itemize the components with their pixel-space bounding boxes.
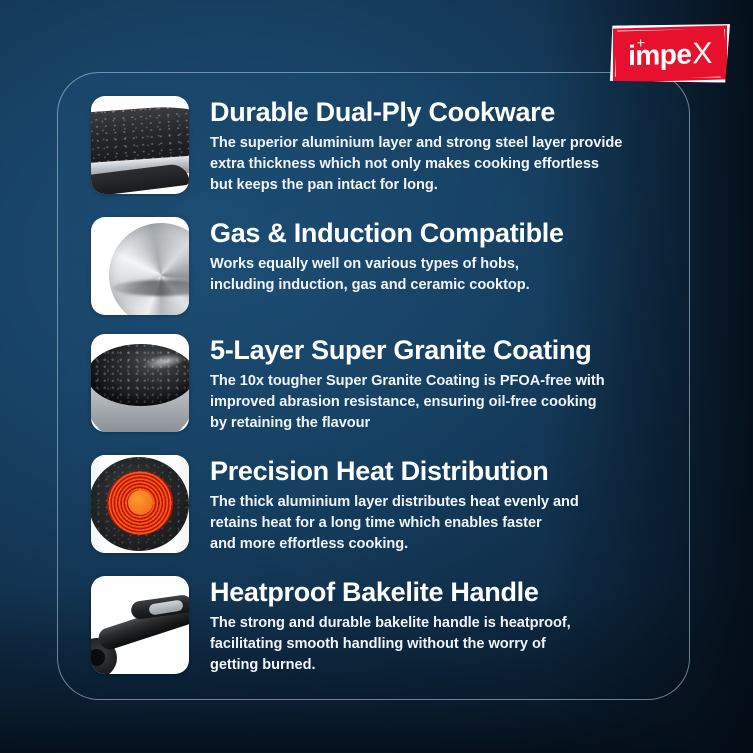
product-feature-infographic: impeX Durable Dual-Ply Cookware The supe…	[0, 0, 753, 753]
feature-text-block: Gas & Induction Compatible Works equally…	[210, 217, 564, 296]
feature-title: 5-Layer Super Granite Coating	[210, 336, 605, 365]
heat-core-center	[128, 490, 153, 515]
feature-description-line: The 10x tougher Super Granite Coating is…	[210, 371, 605, 392]
feature-description-line: improved abrasion resistance, ensuring o…	[210, 392, 605, 413]
disc-face-shape	[109, 223, 189, 315]
feature-description-line: including induction, gas and ceramic coo…	[210, 275, 564, 296]
feature-description-line: and more effortless cooking.	[210, 534, 579, 555]
feature-text-block: Durable Dual-Ply Cookware The superior a…	[210, 96, 622, 195]
feature-item-heatproof-bakelite-handle[interactable]: Heatproof Bakelite Handle The strong and…	[91, 576, 691, 696]
feature-description: The 10x tougher Super Granite Coating is…	[210, 371, 605, 433]
feature-text-block: Heatproof Bakelite Handle The strong and…	[210, 576, 571, 675]
feature-description: Works equally well on various types of h…	[210, 254, 564, 295]
feature-description-line: retains heat for a long time which enabl…	[210, 513, 579, 534]
feature-description-line: facilitating smooth handling without the…	[210, 634, 571, 655]
feature-description-line: Works equally well on various types of h…	[210, 254, 564, 275]
feature-description-line: The superior aluminium layer and strong …	[210, 133, 622, 154]
feature-title: Heatproof Bakelite Handle	[210, 578, 571, 607]
heat-distribution-rings-icon	[91, 455, 189, 553]
feature-description-line: by retaining the flavour	[210, 413, 605, 434]
feature-description: The strong and durable bakelite handle i…	[210, 613, 571, 675]
bakelite-handle-icon	[91, 576, 189, 674]
feature-item-gas-induction-compatible[interactable]: Gas & Induction Compatible Works equally…	[91, 217, 691, 334]
feature-item-super-granite-coating[interactable]: 5-Layer Super Granite Coating The 10x to…	[91, 334, 691, 455]
feature-title: Durable Dual-Ply Cookware	[210, 98, 622, 127]
feature-description-line: The strong and durable bakelite handle i…	[210, 613, 571, 634]
feature-description-line: extra thickness which not only makes coo…	[210, 154, 622, 175]
feature-card: Durable Dual-Ply Cookware The superior a…	[57, 72, 690, 700]
feature-title: Gas & Induction Compatible	[210, 219, 564, 248]
feature-description-line: but keeps the pan intact for long.	[210, 175, 622, 196]
induction-base-disc-icon	[91, 217, 189, 315]
feature-text-block: Precision Heat Distribution The thick al…	[210, 455, 579, 554]
granite-coating-bowl-icon	[91, 334, 189, 432]
impex-logo[interactable]: impeX	[610, 24, 730, 84]
feature-text-block: 5-Layer Super Granite Coating The 10x to…	[210, 334, 605, 433]
feature-description: The thick aluminium layer distributes he…	[210, 492, 579, 554]
sparkle-icon	[637, 39, 644, 46]
pan-edge-dual-ply-icon	[91, 96, 189, 194]
logo-wordmark: impeX	[610, 23, 730, 86]
feature-item-precision-heat-distribution[interactable]: Precision Heat Distribution The thick al…	[91, 455, 691, 576]
logo-x-mark: X	[692, 37, 712, 72]
feature-title: Precision Heat Distribution	[210, 457, 579, 486]
feature-list: Durable Dual-Ply Cookware The superior a…	[58, 73, 691, 701]
feature-description-line: getting burned.	[210, 655, 571, 676]
feature-item-dual-ply-cookware[interactable]: Durable Dual-Ply Cookware The superior a…	[91, 96, 691, 217]
feature-description-line: The thick aluminium layer distributes he…	[210, 492, 579, 513]
feature-description: The superior aluminium layer and strong …	[210, 133, 622, 195]
